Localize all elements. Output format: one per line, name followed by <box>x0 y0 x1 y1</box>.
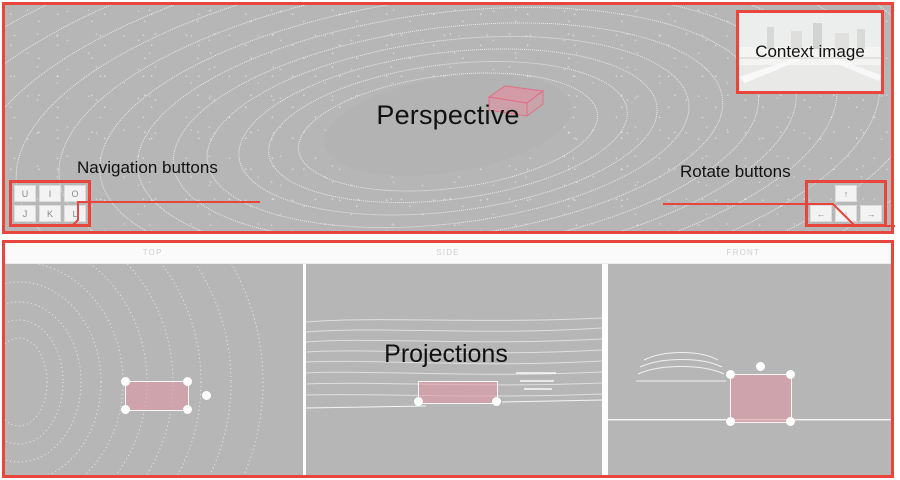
projection-header-side: SIDE <box>300 243 595 263</box>
front-handle-ne[interactable] <box>786 370 795 379</box>
top-view-bounding-box[interactable] <box>125 381 189 411</box>
nav-key-j[interactable]: J <box>14 205 36 222</box>
front-view-bounding-box[interactable] <box>730 374 792 423</box>
projection-view-front[interactable] <box>608 264 891 476</box>
perspective-view-label: Perspective <box>5 100 891 131</box>
top-handle-heading[interactable] <box>202 391 211 400</box>
context-image-label: Context image <box>739 42 881 62</box>
top-handle-ne[interactable] <box>183 377 192 386</box>
projection-header-top: TOP <box>5 243 300 263</box>
front-handle-nw[interactable] <box>726 370 735 379</box>
navigation-buttons-annotation: Navigation buttons <box>77 158 218 178</box>
top-handle-sw[interactable] <box>121 405 130 414</box>
front-handle-top-center[interactable] <box>756 362 765 371</box>
nav-key-u[interactable]: U <box>14 185 36 202</box>
projections-label: Projections <box>296 340 596 369</box>
navigation-leader-line <box>48 176 268 228</box>
projection-view-top[interactable] <box>5 264 303 476</box>
projection-headers: TOP SIDE FRONT <box>5 243 891 264</box>
side-handle-sw[interactable] <box>414 397 423 406</box>
projection-view-side[interactable] <box>306 264 602 476</box>
rotate-buttons-annotation: Rotate buttons <box>680 162 791 182</box>
side-view-point-cloud <box>306 264 602 476</box>
projection-header-front: FRONT <box>596 243 891 263</box>
front-handle-sw[interactable] <box>726 417 735 426</box>
top-view-point-cloud <box>5 264 303 476</box>
front-view-point-cloud <box>608 264 891 476</box>
rotate-leader-line <box>655 180 895 236</box>
side-handle-se[interactable] <box>492 397 501 406</box>
top-handle-nw[interactable] <box>121 377 130 386</box>
context-image-panel[interactable]: Context image <box>736 10 884 94</box>
annotation-tool-screen: Perspective Context image U I <box>0 0 900 480</box>
front-handle-se[interactable] <box>786 417 795 426</box>
side-view-bounding-box[interactable] <box>418 381 498 404</box>
top-handle-se[interactable] <box>183 405 192 414</box>
projection-views <box>5 264 891 476</box>
